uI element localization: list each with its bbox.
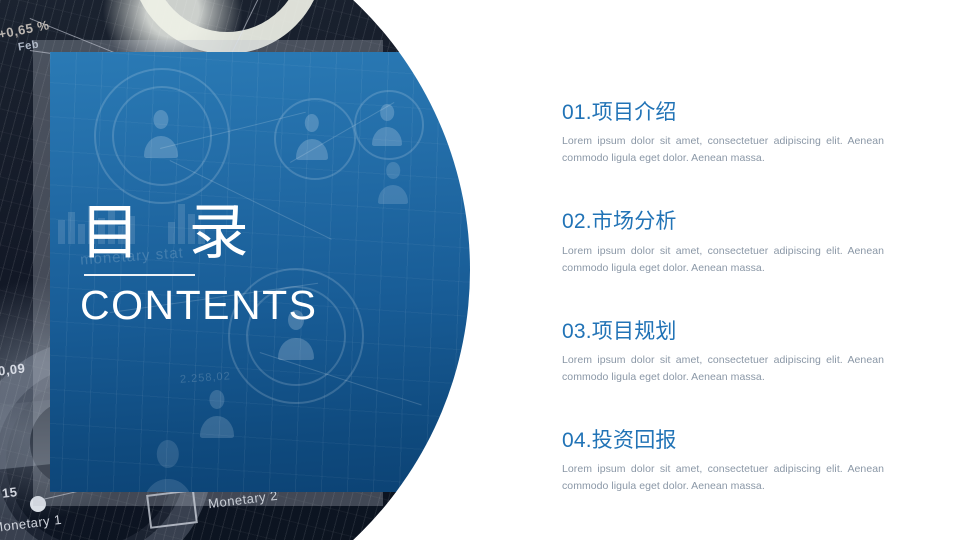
user-icon <box>140 440 196 492</box>
list-item[interactable]: 03.项目规划 Lorem ipsum dolor sit amet, cons… <box>562 319 922 386</box>
contents-item-desc: Lorem ipsum dolor sit amet, consectetuer… <box>562 133 884 167</box>
contents-item-desc: Lorem ipsum dolor sit amet, consectetuer… <box>562 352 884 386</box>
blue-panel-texture: monetary stat 2.258,02 <box>50 52 470 492</box>
panel-bar <box>58 220 65 244</box>
user-icon <box>198 390 236 438</box>
panel-ghost-value: 2.258,02 <box>180 370 232 386</box>
list-item[interactable]: 04.投资回报 Lorem ipsum dolor sit amet, cons… <box>562 428 922 495</box>
page-title-en: CONTENTS <box>80 283 318 328</box>
user-icon <box>294 114 330 160</box>
user-icon <box>370 104 404 146</box>
slide-canvas: +0,65 % Feb +0,05 % Mar 0,09 15 2.258,02… <box>0 0 960 540</box>
user-icon <box>142 110 180 158</box>
contents-item-title: 03.项目规划 <box>562 319 922 345</box>
title-divider <box>84 274 195 276</box>
contents-item-title: 02.市场分析 <box>562 209 922 235</box>
contents-item-desc: Lorem ipsum dolor sit amet, consectetuer… <box>562 461 884 495</box>
user-icon <box>376 162 410 204</box>
list-item[interactable]: 01.项目介绍 Lorem ipsum dolor sit amet, cons… <box>562 100 922 167</box>
contents-item-desc: Lorem ipsum dolor sit amet, consectetuer… <box>562 243 884 277</box>
photo-label-axis-left-low: 15 <box>1 484 18 501</box>
contents-list: 01.项目介绍 Lorem ipsum dolor sit amet, cons… <box>562 100 922 495</box>
contents-item-title: 04.投资回报 <box>562 428 922 454</box>
page-title-cn: 目 录 <box>80 203 265 263</box>
contents-item-title: 01.项目介绍 <box>562 100 922 126</box>
panel-bar <box>68 212 75 244</box>
blue-content-panel: monetary stat 2.258,02 <box>50 52 470 492</box>
list-item[interactable]: 02.市场分析 Lorem ipsum dolor sit amet, cons… <box>562 209 922 276</box>
